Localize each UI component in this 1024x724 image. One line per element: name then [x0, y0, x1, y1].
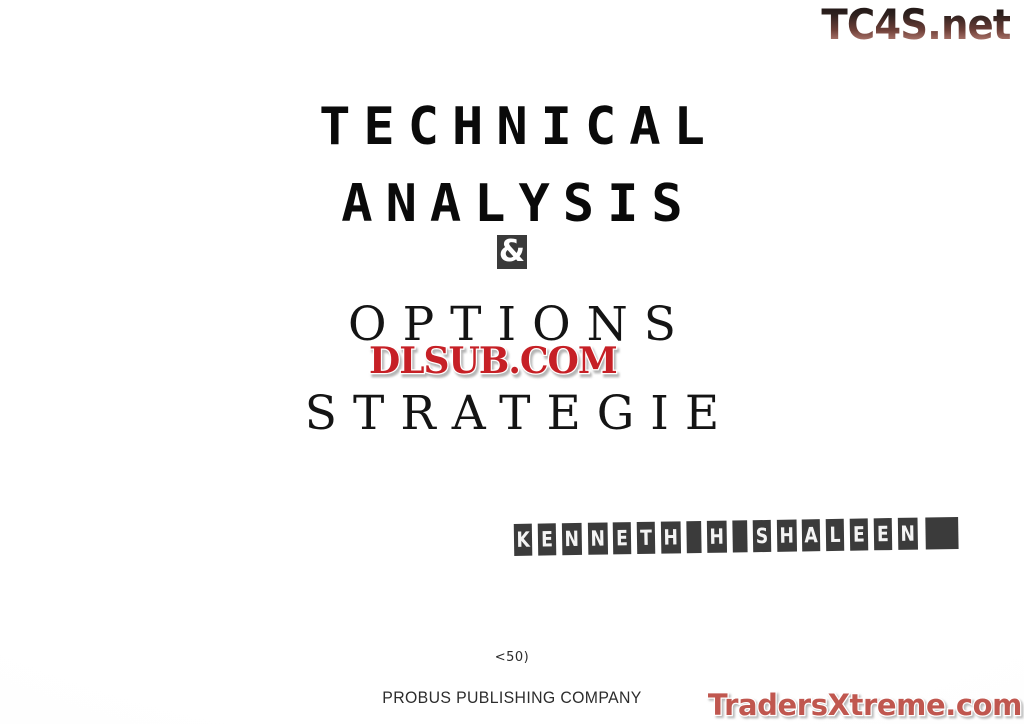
ampersand-wrapper: & [0, 235, 1024, 269]
author-block-letter: E [850, 518, 869, 550]
author-block-letter: A [802, 519, 821, 551]
watermark-tc4s-net: TC4S.net [821, 4, 1010, 46]
watermark-tradersxtreme-com: TradersXtreme.com [708, 688, 1022, 722]
author-block-letter: H [707, 521, 727, 553]
title-line-strategie: STRATEGIE [0, 386, 1024, 441]
author-block-letter: S [752, 520, 771, 552]
author-block-letter: N [588, 523, 608, 555]
author-block-letter: L [826, 519, 845, 551]
author-block-letter: N [562, 523, 582, 555]
ampersand-block: & [497, 235, 527, 269]
author-block-space [732, 520, 747, 552]
author-block-letter: N [898, 518, 918, 550]
page-code-mark: <50) [0, 650, 1024, 665]
author-block-letter: H [776, 520, 796, 552]
author-block-letter: E [538, 523, 557, 555]
author-block-space [686, 521, 701, 553]
book-cover-scan: TC4S.net TECHNICAL ANALYSIS & OPTIONS ST… [0, 0, 1024, 724]
author-block-letter: K [514, 524, 533, 556]
author-block-letter: T [637, 522, 656, 554]
author-block-letter: E [613, 522, 632, 554]
author-name-strip: KENNETH H SHALEEN [512, 517, 964, 556]
title-line-technical: TECHNICAL [0, 97, 1024, 157]
author-block-letter: E [874, 518, 893, 550]
author-block-letter: H [661, 521, 681, 553]
author-block-trailing [925, 517, 958, 550]
title-line-analysis: ANALYSIS [0, 174, 1024, 234]
watermark-dlsub-com: DLSUB.COM [369, 341, 617, 381]
